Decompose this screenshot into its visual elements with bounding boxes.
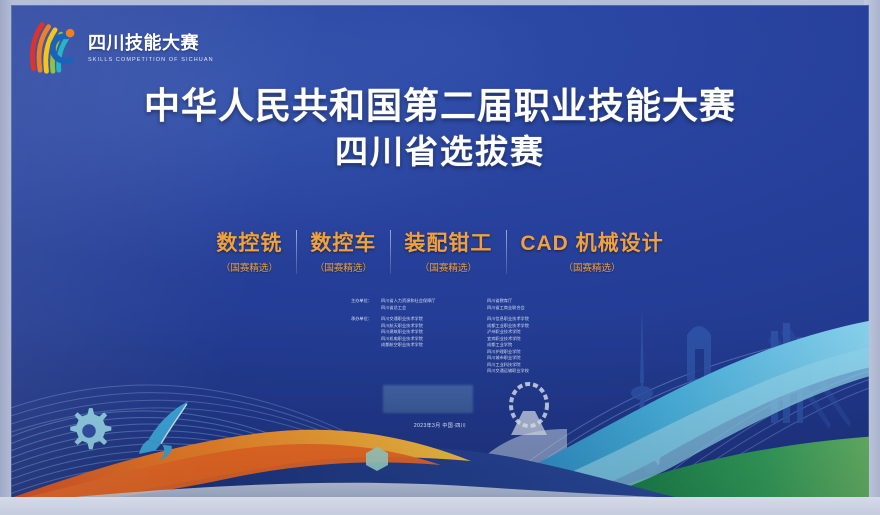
floor-strip — [0, 497, 880, 515]
logo-chinese-name: 四川技能大赛 — [88, 29, 214, 55]
competition-logo: 四川技能大赛 SKILLS COMPETITION OF SICHUAN — [27, 17, 214, 75]
executive-column-2: 四川信息职业技术学院 成都工业职业技术学院 泸州职业技术学院 宜宾职业技术学院 … — [487, 316, 567, 375]
category-name: 数控车 — [310, 227, 376, 257]
host-organizers-row: 主办单位： 四川省人力资源和社会保障厅 四川省总工会 四川省教育厅 四川省工商业… — [351, 298, 611, 311]
photo-of-event-banner: 四川技能大赛 SKILLS COMPETITION OF SICHUAN 中华人… — [0, 0, 880, 515]
category-item: CAD 机械设计 （国赛精选） — [506, 227, 677, 274]
logo-english-name: SKILLS COMPETITION OF SICHUAN — [88, 57, 214, 63]
organizer-name: 四川省总工会 — [381, 305, 469, 312]
category-name: CAD 机械设计 — [520, 227, 663, 257]
category-subtitle: （国赛精选） — [310, 260, 376, 274]
event-backdrop-banner: 四川技能大赛 SKILLS COMPETITION OF SICHUAN 中华人… — [11, 5, 869, 505]
event-date-location: 2023年3月 中国·四川 — [11, 422, 869, 429]
skills-competition-fan-logo-icon — [27, 17, 81, 75]
category-item: 数控车 （国赛精选） — [296, 227, 390, 274]
main-title-line-1: 中华人民共和国第二届职业技能大赛 — [11, 85, 869, 127]
category-subtitle: （国赛精选） — [216, 260, 282, 274]
gear-icon — [63, 405, 115, 457]
category-item: 数控铣 （国赛精选） — [202, 227, 296, 274]
organizer-name: 四川交通运输职业学校 — [487, 368, 567, 375]
executive-label: 承办单位： — [351, 316, 381, 375]
category-name: 装配钳工 — [404, 227, 492, 257]
main-title-line-2: 四川省选拔赛 — [11, 131, 869, 174]
organizer-name: 四川省工商业联合会 — [487, 305, 567, 312]
host-column-1: 四川省人力资源和社会保障厅 四川省总工会 — [381, 298, 469, 311]
obscured-placard — [383, 385, 473, 413]
executive-organizers-row: 承办单位： 四川交通职业技术学院 四川航天职业技术学院 四川建筑职业技术学院 四… — [351, 316, 611, 375]
banner-title-block: 中华人民共和国第二届职业技能大赛 四川省选拔赛 — [11, 85, 869, 174]
executive-column-1: 四川交通职业技术学院 四川航天职业技术学院 四川建筑职业技术学院 四川机电职业技… — [381, 316, 469, 375]
organizer-credits: 主办单位： 四川省人力资源和社会保障厅 四川省总工会 四川省教育厅 四川省工商业… — [351, 298, 611, 380]
rocket-icon — [131, 397, 203, 461]
host-column-2: 四川省教育厅 四川省工商业联合会 — [487, 298, 567, 311]
category-subtitle: （国赛精选） — [520, 260, 663, 274]
organizer-name: 成都航空职业技术学院 — [381, 342, 469, 349]
host-label: 主办单位： — [351, 298, 381, 311]
category-name: 数控铣 — [216, 227, 282, 257]
category-item: 装配钳工 （国赛精选） — [390, 227, 506, 274]
category-subtitle: （国赛精选） — [404, 260, 492, 274]
competition-categories: 数控铣 （国赛精选） 数控车 （国赛精选） 装配钳工 （国赛精选） CAD 机械… — [11, 227, 869, 274]
